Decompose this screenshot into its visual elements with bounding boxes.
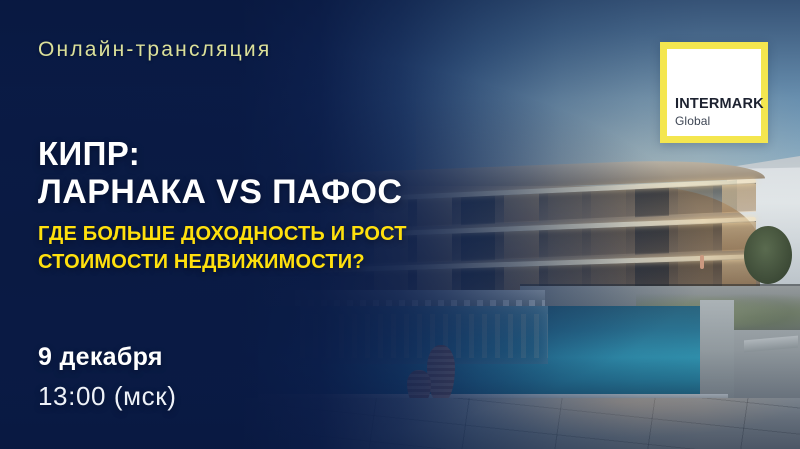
intermark-global-logo[interactable]: INTERMARK Global (660, 42, 768, 143)
headline-line-2: ЛАРНАКА VS ПАФОС (38, 173, 402, 211)
banner-content: Онлайн-трансляция КИПР: ЛАРНАКА VS ПАФОС… (0, 0, 800, 449)
subtitle-line-1: ГДЕ БОЛЬШЕ ДОХОДНОСТЬ И РОСТ (38, 221, 407, 249)
webinar-promo-banner: Онлайн-трансляция КИПР: ЛАРНАКА VS ПАФОС… (0, 0, 800, 449)
subtitle: ГДЕ БОЛЬШЕ ДОХОДНОСТЬ И РОСТ СТОИМОСТИ Н… (38, 221, 407, 276)
event-time: 13:00 (мск) (38, 381, 176, 412)
headline-line-1: КИПР: (38, 136, 402, 173)
broadcast-label: Онлайн-трансляция (38, 38, 271, 62)
subtitle-line-2: СТОИМОСТИ НЕДВИЖИМОСТИ? (38, 249, 407, 277)
logo-inner-card: INTERMARK Global (667, 49, 761, 136)
page-title: КИПР: ЛАРНАКА VS ПАФОС (38, 136, 402, 211)
logo-brand-sub: Global (675, 115, 710, 127)
event-date: 9 декабря (38, 343, 163, 372)
logo-brand-name: INTERMARK (675, 97, 764, 112)
